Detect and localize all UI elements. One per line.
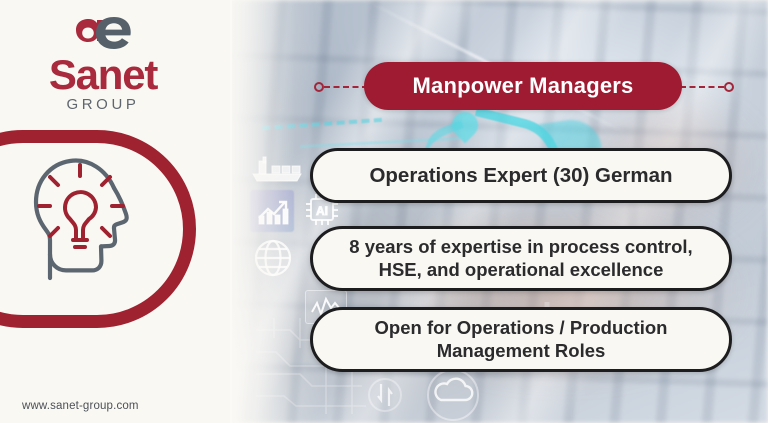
info-pill-openness-line1: Open for Operations / Production [375,317,668,338]
dashed-connector-dot [314,82,324,92]
dashed-connector-line [324,86,368,88]
info-pill-role: Operations Expert (30) German [310,148,732,203]
info-pill-expertise-line1: 8 years of expertise in process control, [349,236,692,257]
dashed-connector-dot [724,82,734,92]
brand-logo[interactable]: Sanet GROUP [18,8,188,113]
left-panel-fade-soft [230,0,325,423]
poster-canvas: AI [0,0,768,423]
connector-left [314,86,366,88]
title-pill: Manpower Managers [364,62,682,110]
brand-subtitle: GROUP [18,96,188,113]
dashed-connector-line [680,86,724,88]
website-url[interactable]: www.sanet-group.com [22,400,139,412]
page-title: Manpower Managers [412,73,633,99]
info-pill-expertise: 8 years of expertise in process control,… [310,226,732,291]
info-pill-openness-text: Open for Operations / Production Managem… [375,317,668,363]
info-pill-expertise-line2: HSE, and operational excellence [379,259,664,280]
connector-right [680,86,738,88]
info-pill-role-text: Operations Expert (30) German [369,163,672,188]
info-pill-openness-line2: Management Roles [437,340,606,361]
head-with-lightbulb-icon [30,152,150,309]
ae-ligature-logo [18,8,188,54]
info-pill-expertise-text: 8 years of expertise in process control,… [349,236,692,282]
hero-icon-frame [0,130,196,328]
info-pill-openness: Open for Operations / Production Managem… [310,307,732,372]
brand-name: Sanet [18,55,188,95]
